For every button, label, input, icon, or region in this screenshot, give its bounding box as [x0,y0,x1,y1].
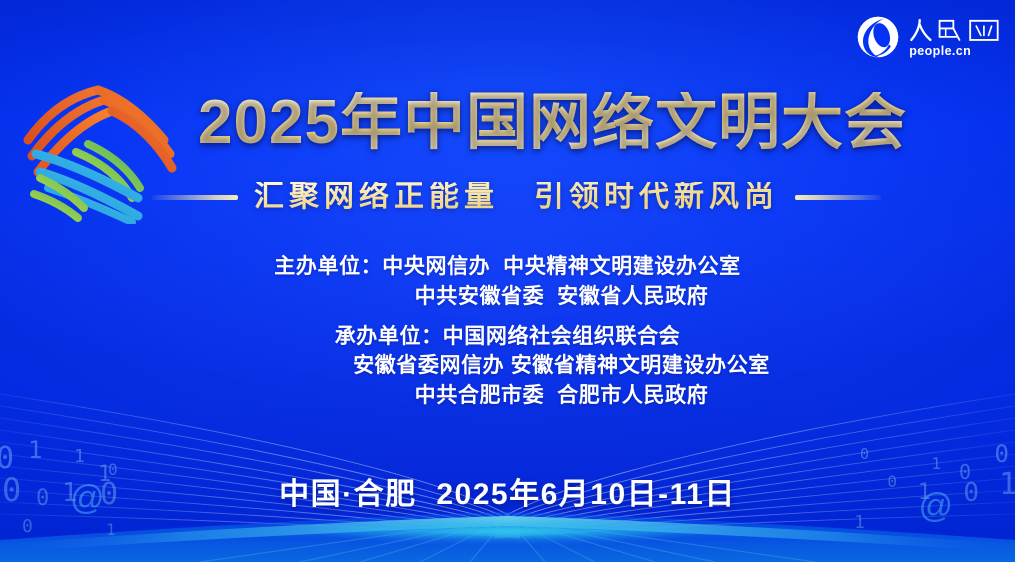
brand-text-group: people.cn [909,17,1001,58]
page-title: 2025年中国网络文明大会 [198,92,907,154]
subtitle-dash-right [795,195,881,200]
brand-domain-label: people.cn [909,45,971,58]
cohost-organizers-block: 承办单位：中国网络社会组织联合会 安徽省委网信办 安徽省精神文明建设办公室 中共… [0,322,1015,411]
cohost-organizer-line: 安徽省委网信办 安徽省精神文明建设办公室 [0,351,1015,381]
cohost-organizer-line: 承办单位：中国网络社会组织联合会 [0,322,1015,352]
peoples-daily-brand[interactable]: people.cn [855,14,1001,60]
renminwang-wordmark-icon [909,17,1001,43]
subtitle-text: 汇聚网络正能量 引领时代新风尚 [254,182,779,212]
event-datebar: 中国·合肥 2025年6月10日-11日 [0,480,1015,510]
host-organizer-line: 中共安徽省委 安徽省人民政府 [0,282,1015,312]
title-container: 2025年中国网络文明大会 [0,92,1015,154]
organizers-section: 主办单位：中央网信办 中央精神文明建设办公室 中共安徽省委 安徽省人民政府 承办… [0,252,1015,421]
cohost-organizer-line: 中共合肥市委 合肥市人民政府 [0,381,1015,411]
subtitle-dash-left [152,195,238,200]
host-organizers-block: 主办单位：中央网信办 中央精神文明建设办公室 中共安徽省委 安徽省人民政府 [0,252,1015,312]
conference-poster: 0 1 1 0 0 0 1 0 1 0 1 @ 0 0 1 1 0 1 0 0 … [0,0,1015,562]
subtitle-container: 汇聚网络正能量 引领时代新风尚 [0,182,1015,212]
event-location-and-dates: 中国·合肥 2025年6月10日-11日 [279,480,736,510]
peoples-daily-globe-icon [855,14,901,60]
host-organizer-line: 主办单位：中央网信办 中央精神文明建设办公室 [0,252,1015,282]
